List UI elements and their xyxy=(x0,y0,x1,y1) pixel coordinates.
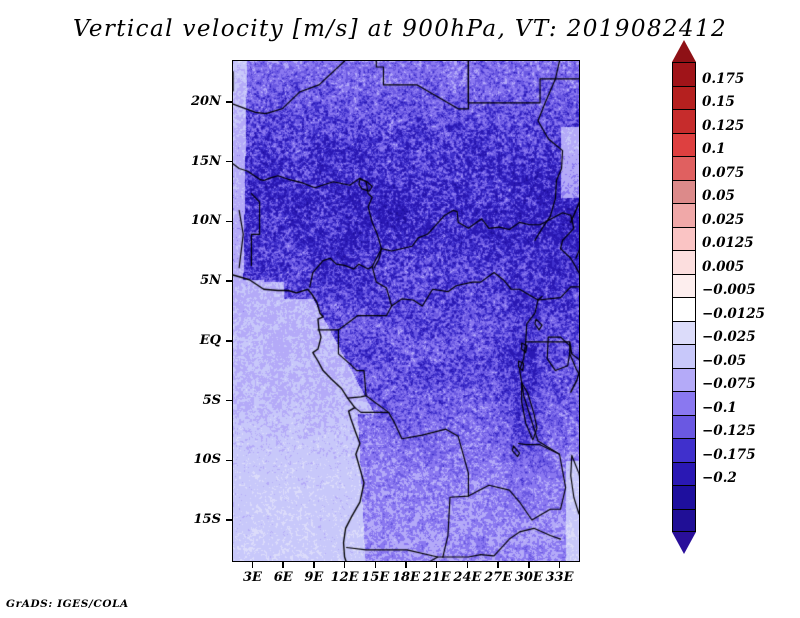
colorbar-tick-label: −0.125 xyxy=(702,423,756,439)
colorbar-band xyxy=(672,62,696,86)
x-axis-tick xyxy=(497,562,499,568)
y-axis-tick xyxy=(226,221,232,223)
x-axis-label: 33E xyxy=(546,570,574,585)
x-axis-label: 3E xyxy=(243,570,262,585)
colorbar-band xyxy=(672,344,696,368)
y-axis-tick xyxy=(226,460,232,462)
x-axis-label: 12E xyxy=(331,570,359,585)
colorbar-band xyxy=(672,509,696,533)
y-axis-tick xyxy=(226,340,232,342)
x-axis-tick xyxy=(528,562,530,568)
x-axis-tick xyxy=(252,562,254,568)
x-axis-label: 24E xyxy=(453,570,481,585)
y-axis-label: 10S xyxy=(0,452,221,467)
colorbar-band xyxy=(672,415,696,439)
colorbar-tick-label: −0.2 xyxy=(702,470,737,486)
x-axis-label: 27E xyxy=(484,570,512,585)
x-axis-label: 18E xyxy=(392,570,420,585)
y-axis-label: 5N xyxy=(0,273,221,288)
colorbar-tick-label: 0.15 xyxy=(702,94,735,110)
x-axis-label: 9E xyxy=(304,570,323,585)
x-axis-label: 15E xyxy=(361,570,389,585)
x-axis-tick xyxy=(375,562,377,568)
colorbar-tick-label: −0.175 xyxy=(702,447,756,463)
colorbar-tick-label: 0.025 xyxy=(702,212,744,228)
colorbar-band xyxy=(672,250,696,274)
colorbar xyxy=(672,62,696,555)
colorbar-band xyxy=(672,485,696,509)
x-axis-tick xyxy=(405,562,407,568)
colorbar-arrow-bottom xyxy=(672,532,696,554)
y-axis-label: EQ xyxy=(0,333,221,348)
colorbar-tick-label: 0.1 xyxy=(702,141,726,157)
y-axis-label: 15N xyxy=(0,154,221,169)
colorbar-tick-label: 0.05 xyxy=(702,188,735,204)
colorbar-band xyxy=(672,297,696,321)
colorbar-band xyxy=(672,227,696,251)
x-axis-tick xyxy=(467,562,469,568)
colorbar-tick-label: −0.025 xyxy=(702,329,756,345)
map-plot-area xyxy=(232,60,580,562)
x-axis-tick xyxy=(313,562,315,568)
colorbar-band xyxy=(672,86,696,110)
colorbar-band xyxy=(672,391,696,415)
colorbar-band xyxy=(672,462,696,486)
colorbar-band xyxy=(672,156,696,180)
y-axis-tick xyxy=(226,101,232,103)
colorbar-tick-label: 0.125 xyxy=(702,118,744,134)
x-axis-label: 6E xyxy=(274,570,293,585)
y-axis-label: 10N xyxy=(0,213,221,228)
page-title: Vertical velocity [m/s] at 900hPa, VT: 2… xyxy=(0,16,800,42)
colorbar-tick-label: 0.175 xyxy=(702,71,744,87)
y-axis-label: 15S xyxy=(0,512,221,527)
colorbar-tick-label: −0.005 xyxy=(702,282,756,298)
colorbar-band xyxy=(672,109,696,133)
colorbar-band xyxy=(672,180,696,204)
colorbar-band xyxy=(672,368,696,392)
x-axis-label: 21E xyxy=(423,570,451,585)
y-axis-tick xyxy=(226,161,232,163)
y-axis-tick xyxy=(226,519,232,521)
colorbar-tick-label: 0.075 xyxy=(702,165,744,181)
x-axis-tick xyxy=(282,562,284,568)
vertical-velocity-heatmap xyxy=(233,61,580,562)
colorbar-tick-label: 0.005 xyxy=(702,259,744,275)
y-axis-tick xyxy=(226,400,232,402)
x-axis-label: 30E xyxy=(515,570,543,585)
footer-credit: GrADS: IGES/COLA xyxy=(6,598,129,610)
x-axis-tick xyxy=(559,562,561,568)
colorbar-tick-label: 0.0125 xyxy=(702,235,754,251)
x-axis-tick xyxy=(344,562,346,568)
colorbar-arrow-top xyxy=(672,40,696,62)
colorbar-band xyxy=(672,203,696,227)
colorbar-tick-label: −0.1 xyxy=(702,400,737,416)
colorbar-tick-label: −0.0125 xyxy=(702,306,765,322)
colorbar-band xyxy=(672,274,696,298)
x-axis-tick xyxy=(436,562,438,568)
colorbar-band xyxy=(672,321,696,345)
y-axis-tick xyxy=(226,280,232,282)
y-axis-label: 5S xyxy=(0,393,221,408)
colorbar-tick-label: −0.05 xyxy=(702,353,746,369)
colorbar-tick-label: −0.075 xyxy=(702,376,756,392)
colorbar-band xyxy=(672,133,696,157)
colorbar-band xyxy=(672,438,696,462)
y-axis-label: 20N xyxy=(0,94,221,109)
